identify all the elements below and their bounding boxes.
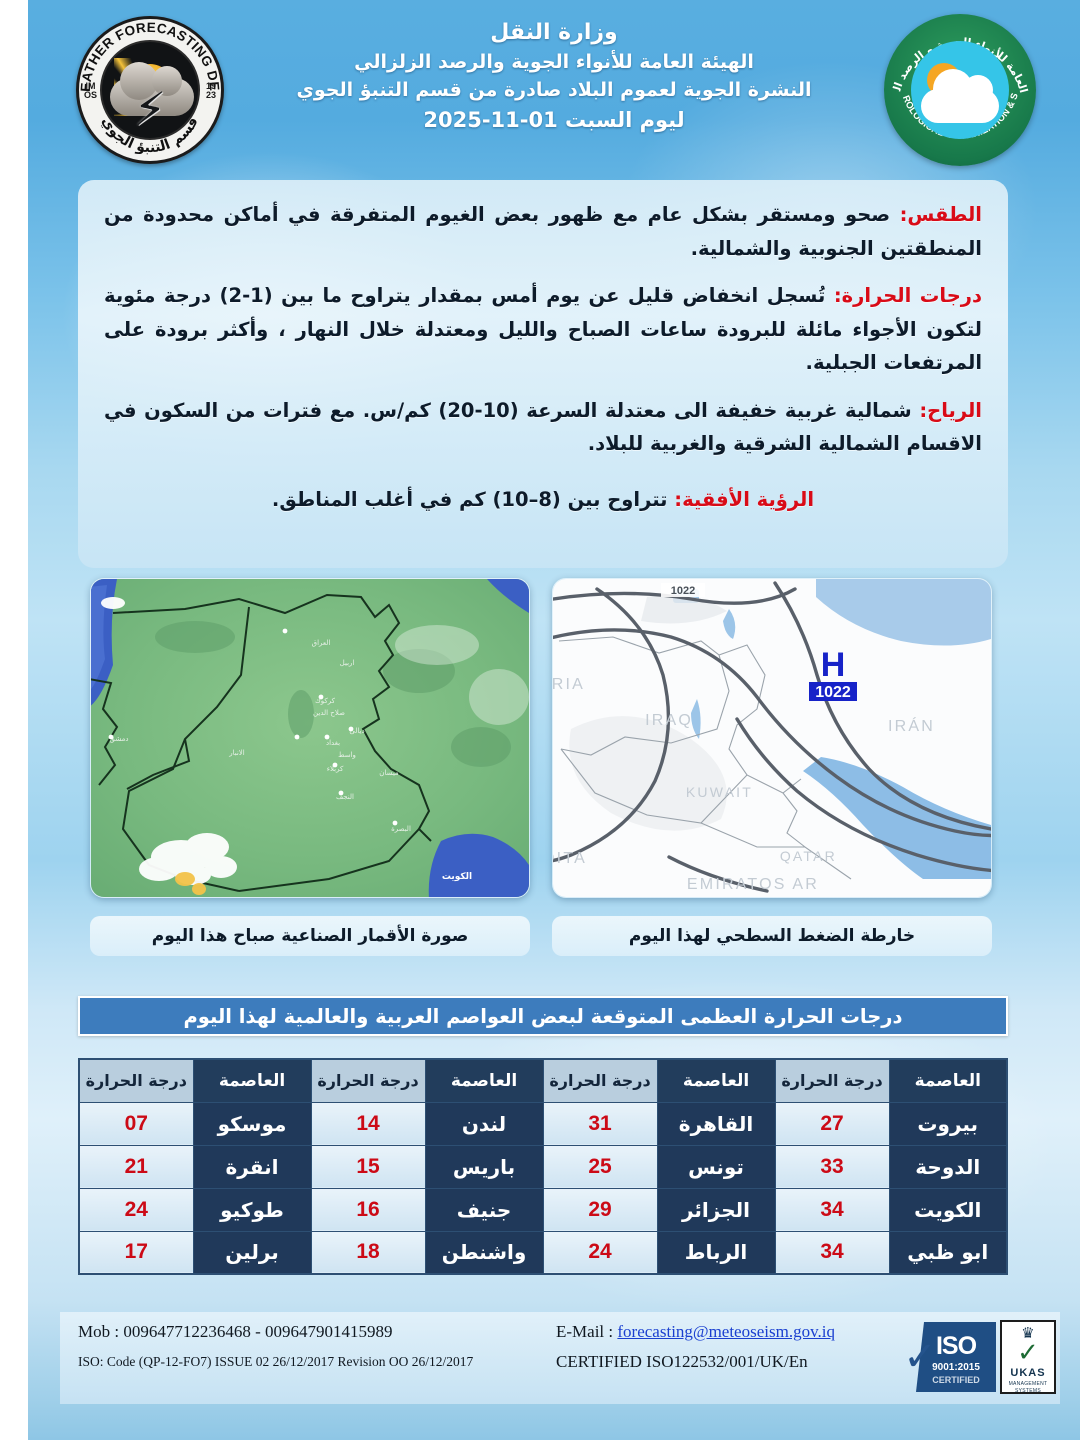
city-name: واشنطن [425,1231,543,1274]
table-row: الدوحة 33 تونس 25 باريس 15 انقرة 21 [79,1145,1007,1188]
city-temperature: 17 [79,1231,193,1274]
city-name: الجزائر [657,1188,775,1231]
city-temperature: 15 [311,1145,425,1188]
map-captions-row: خارطة الضغط السطحي لهذا اليوم صورة الأقم… [78,916,1008,962]
city-name: برلين [193,1231,311,1274]
iso-document-code: ISO: Code (QP-12-FO7) ISSUE 02 26/12/201… [78,1354,548,1370]
satellite-label-iraq: العراق [312,639,331,647]
country-label-emirates: EMIRATOS AR [687,876,819,893]
weather-paragraph: الطقس: صحو ومستقر بشكل عام مع ظهور بعض ا… [104,198,982,265]
table-row: بيروت 27 القاهرة 31 لندن 14 موسكو 07 [79,1102,1007,1145]
visibility-paragraph: الرؤية الأفقية: تتراوح بين (8–10) كم في … [104,483,982,517]
city-name: باريس [425,1145,543,1188]
city-name: الدوحة [889,1145,1007,1188]
city-temperature: 07 [79,1102,193,1145]
svg-text:1022: 1022 [671,585,695,597]
page-footer: Mob : 009647712236468 - 009647901415989 … [60,1312,1060,1404]
city-name: الكويت [889,1188,1007,1231]
visibility-label: الرؤية الأفقية: [674,488,814,511]
lightning-bolt-icon: ⚡ [134,86,166,132]
weather-text: صحو ومستقر بشكل عام مع ظهور بعض الغيوم ا… [104,203,982,260]
svg-text:كركوك: كركوك [315,697,336,705]
bulletin-page: WEATHER FORECASTING DEPT. قسم التنبؤ الج… [0,0,1080,1440]
svg-text:ميسان: ميسان [379,769,399,777]
city-name: موسكو [193,1102,311,1145]
svg-text:اربيل: اربيل [340,659,355,667]
city-name: ابو ظبي [889,1231,1007,1274]
table-header-temp: درجة الحرارة [543,1059,657,1102]
ukas-accreditation-badge: ♛ ✓ UKAS MANAGEMENT SYSTEMS [1000,1320,1056,1394]
svg-text:صلاح الدين: صلاح الدين [313,709,345,717]
svg-text:كربلاء: كربلاء [327,765,344,773]
imos-inner-disc [911,41,1009,139]
city-name: جنيف [425,1188,543,1231]
wind-text: شمالية غربية خفيفة الى معتدلة السرعة (10… [104,399,982,456]
city-name: طوكيو [193,1188,311,1231]
pressure-map-caption: خارطة الضغط السطحي لهذا اليوم [552,916,992,956]
svg-text:دمشق: دمشق [110,735,129,743]
footer-contact-block: Mob : 009647712236468 - 009647901415989 … [78,1322,548,1370]
svg-text:الانبار: الانبار [228,749,245,757]
pressure-map-graphic: 1022 H 1022 SIRIA IRAQ IRÁN KUWAIT ARABI… [552,579,991,898]
email-link[interactable]: forecasting@meteoseism.gov.iq [617,1322,835,1341]
cloud-icon [921,89,999,123]
city-temperature: 18 [311,1231,425,1274]
svg-text:النجف: النجف [336,793,354,801]
city-temperature: 33 [775,1145,889,1188]
weather-label: الطقس: [900,203,982,226]
temperature-label: درجات الحرارة: [834,284,982,307]
city-temperature: 34 [775,1188,889,1231]
city-temperature: 21 [79,1145,193,1188]
temperature-table-title: درجات الحرارة العظمى المتوقعة لبعض العوا… [78,996,1008,1036]
visibility-text: تتراوح بين (8–10) كم في أغلب المناطق. [272,488,674,511]
city-temperature: 31 [543,1102,657,1145]
checkmark-icon: ✓ [1002,1340,1054,1366]
country-label-siria: SIRIA [552,676,585,693]
city-temperature: 24 [79,1188,193,1231]
city-temperature: 16 [311,1188,425,1231]
svg-text:واسط: واسط [338,751,356,759]
svg-text:بغداد: بغداد [326,739,340,747]
city-temperature: 14 [311,1102,425,1145]
satellite-label-kuwait: الكويت [442,872,472,882]
ukas-badge-word: UKAS [1002,1367,1054,1379]
table-header-city: العاصمة [657,1059,775,1102]
certification-text: CERTIFIED ISO122532/001/UK/En [556,1352,886,1372]
table-header-city: العاصمة [193,1059,311,1102]
footer-email-block: E-Mail : forecasting@meteoseism.gov.iq C… [556,1322,886,1372]
city-name: القاهرة [657,1102,775,1145]
checkmark-icon: ✓ [898,1326,942,1388]
table-header-temp: درجة الحرارة [79,1059,193,1102]
table-header-temp: درجة الحرارة [775,1059,889,1102]
svg-text:ديالى: ديالى [349,727,364,735]
city-name: بيروت [889,1102,1007,1145]
city-temperature: 34 [775,1231,889,1274]
table-header-temp: درجة الحرارة [311,1059,425,1102]
city-name: الرباط [657,1231,775,1274]
ukas-badge-sub: MANAGEMENT SYSTEMS [1002,1381,1054,1394]
table-row: الكويت 34 الجزائر 29 جنيف 16 طوكيو 24 [79,1188,1007,1231]
satellite-map-caption: صورة الأقمار الصناعية صباح هذا اليوم [90,916,530,956]
city-temperature: 27 [775,1102,889,1145]
country-label-saudi: ARABIA SAUDITA [552,850,587,867]
high-pressure-symbol: H [821,646,846,684]
country-label-qatar: QATAR [780,848,837,864]
isobar-label: 1022 [661,583,705,597]
mobile-numbers: Mob : 009647712236468 - 009647901415989 [78,1322,548,1342]
city-name: تونس [657,1145,775,1188]
wind-paragraph: الرياح: شمالية غربية خفيفة الى معتدلة ال… [104,394,982,461]
table-row: ابو ظبي 34 الرباط 24 واشنطن 18 برلين 17 [79,1231,1007,1274]
email-label: E-Mail : [556,1322,617,1341]
city-temperature: 24 [543,1231,657,1274]
satellite-image-map: العراق اربيل كركوك صلاح الدين ديالى بغدا… [90,578,530,898]
svg-text:1022: 1022 [815,684,851,701]
table-header-city: العاصمة [889,1059,1007,1102]
table-header-row: العاصمة درجة الحرارة العاصمة درجة الحرار… [79,1059,1007,1102]
city-temperature: 25 [543,1145,657,1188]
high-pressure-value: 1022 [809,682,857,701]
imos-logo: الهيئة العامة للأنواء الجوية و الرصد الز… [884,14,1036,166]
forecast-text-panel: الطقس: صحو ومستقر بشكل عام مع ظهور بعض ا… [78,180,1008,568]
wind-label: الرياح: [919,399,982,422]
city-temperature: 29 [543,1188,657,1231]
svg-text:البصرة: البصرة [391,825,411,833]
email-line: E-Mail : forecasting@meteoseism.gov.iq [556,1322,886,1342]
city-name: لندن [425,1102,543,1145]
city-name: انقرة [193,1145,311,1188]
temperature-paragraph: درجات الحرارة: تُسجل انخفاض قليل عن يوم … [104,279,982,380]
iso-certification-badge: ISO 9001:2015 CERTIFIED ✓ [898,1320,996,1394]
surface-pressure-map: 1022 H 1022 SIRIA IRAQ IRÁN KUWAIT ARABI… [552,578,992,898]
country-label-kuwait: KUWAIT [686,784,753,800]
maps-row: 1022 H 1022 SIRIA IRAQ IRÁN KUWAIT ARABI… [78,578,1008,906]
table-header-city: العاصمة [425,1059,543,1102]
country-label-iraq: IRAQ [645,712,693,729]
satellite-map-graphic: العراق اربيل كركوك صلاح الدين ديالى بغدا… [90,579,529,898]
country-label-iran: IRÁN [888,716,935,735]
capital-temperatures-table: العاصمة درجة الحرارة العاصمة درجة الحرار… [78,1058,1008,1275]
page-header: WEATHER FORECASTING DEPT. قسم التنبؤ الج… [28,0,1080,176]
